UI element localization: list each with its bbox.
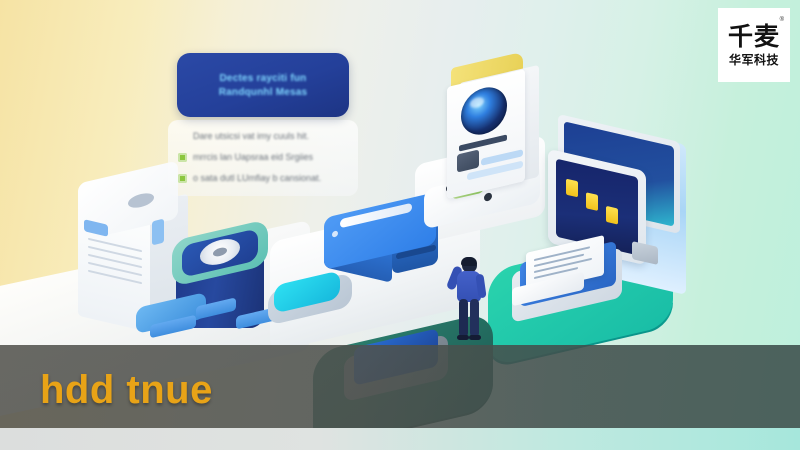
bullet-marker-icon bbox=[178, 174, 187, 183]
person-hair bbox=[461, 257, 477, 266]
list-item-label: Dare utsicsi vat imy cuuls hit. bbox=[193, 131, 309, 141]
person-right-leg bbox=[470, 299, 479, 337]
person-right-shoe bbox=[469, 335, 481, 340]
file-icon bbox=[606, 206, 618, 225]
person-left-leg bbox=[459, 299, 468, 337]
document-card-lens bbox=[443, 68, 539, 196]
text-panel: Dare utsicsi vat imy cuuls hit. mrrcis l… bbox=[168, 44, 358, 196]
banner-line-2: Randqunhl Mesas bbox=[219, 87, 308, 98]
file-icon bbox=[566, 179, 578, 198]
list-item: mrrcis lan Uapsraa eid Srgiies bbox=[178, 151, 348, 163]
bullet-marker-none bbox=[178, 132, 187, 141]
tower-blue-tab-right bbox=[152, 219, 164, 246]
banner-line-1: Dectes rayciti fun bbox=[220, 73, 307, 84]
headline-banner: Dectes rayciti fun Randqunhl Mesas bbox=[177, 53, 349, 117]
caption-text: hdd tnue bbox=[40, 368, 213, 413]
person-left-shoe bbox=[457, 335, 469, 340]
bullet-marker-icon bbox=[178, 153, 187, 162]
logo-sub-text: 华军科技 bbox=[729, 54, 779, 66]
list-item: o sata dutl LUmfiay b cansionat. bbox=[178, 172, 348, 184]
logo-main-text: 千麦 bbox=[728, 24, 780, 49]
bottom-strip bbox=[0, 428, 800, 450]
list-item-label: mrrcis lan Uapsraa eid Srgiies bbox=[193, 152, 313, 162]
standing-person bbox=[449, 258, 489, 340]
list-item: Dare utsicsi vat imy cuuls hit. bbox=[178, 130, 348, 142]
illustration-canvas: Dare utsicsi vat imy cuuls hit. mrrcis l… bbox=[0, 0, 800, 450]
brand-logo: ® 千麦 华军科技 bbox=[718, 8, 790, 82]
list-item-label: o sata dutl LUmfiay b cansionat. bbox=[193, 173, 321, 183]
file-icon bbox=[586, 192, 598, 211]
document-device bbox=[512, 244, 634, 318]
registered-mark-icon: ® bbox=[780, 17, 784, 23]
bullet-list: Dare utsicsi vat imy cuuls hit. mrrcis l… bbox=[168, 120, 358, 196]
